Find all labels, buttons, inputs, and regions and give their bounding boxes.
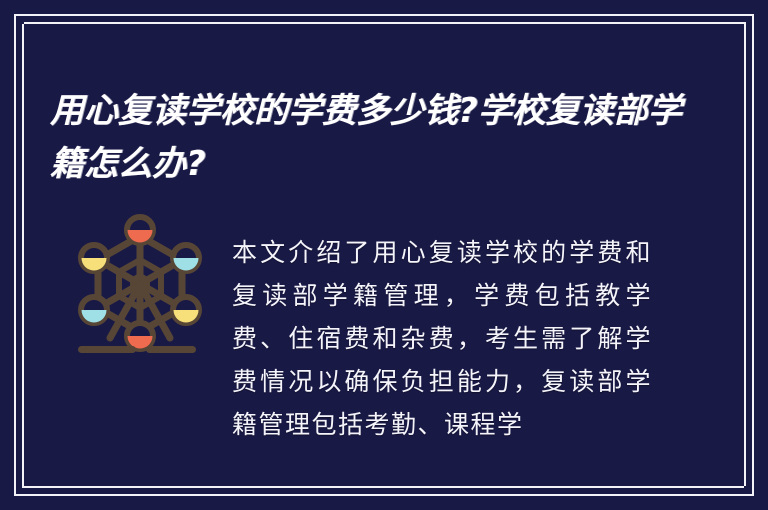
poster-card: 用心复读学校的学费多少钱?学校复读部学籍怎么办? [0, 0, 768, 510]
page-title: 用心复读学校的学费多少钱?学校复读部学籍怎么办? [50, 85, 690, 191]
frame-corner-notch-top-left [16, 16, 24, 24]
frame-corner-notch-bottom-right [744, 486, 752, 494]
article-summary-text: 本文介绍了用心复读学校的学费和复读部学籍管理，学费包括教学费、住宿费和杂费，考生… [232, 231, 652, 510]
ferris-wheel-icon [70, 208, 210, 358]
